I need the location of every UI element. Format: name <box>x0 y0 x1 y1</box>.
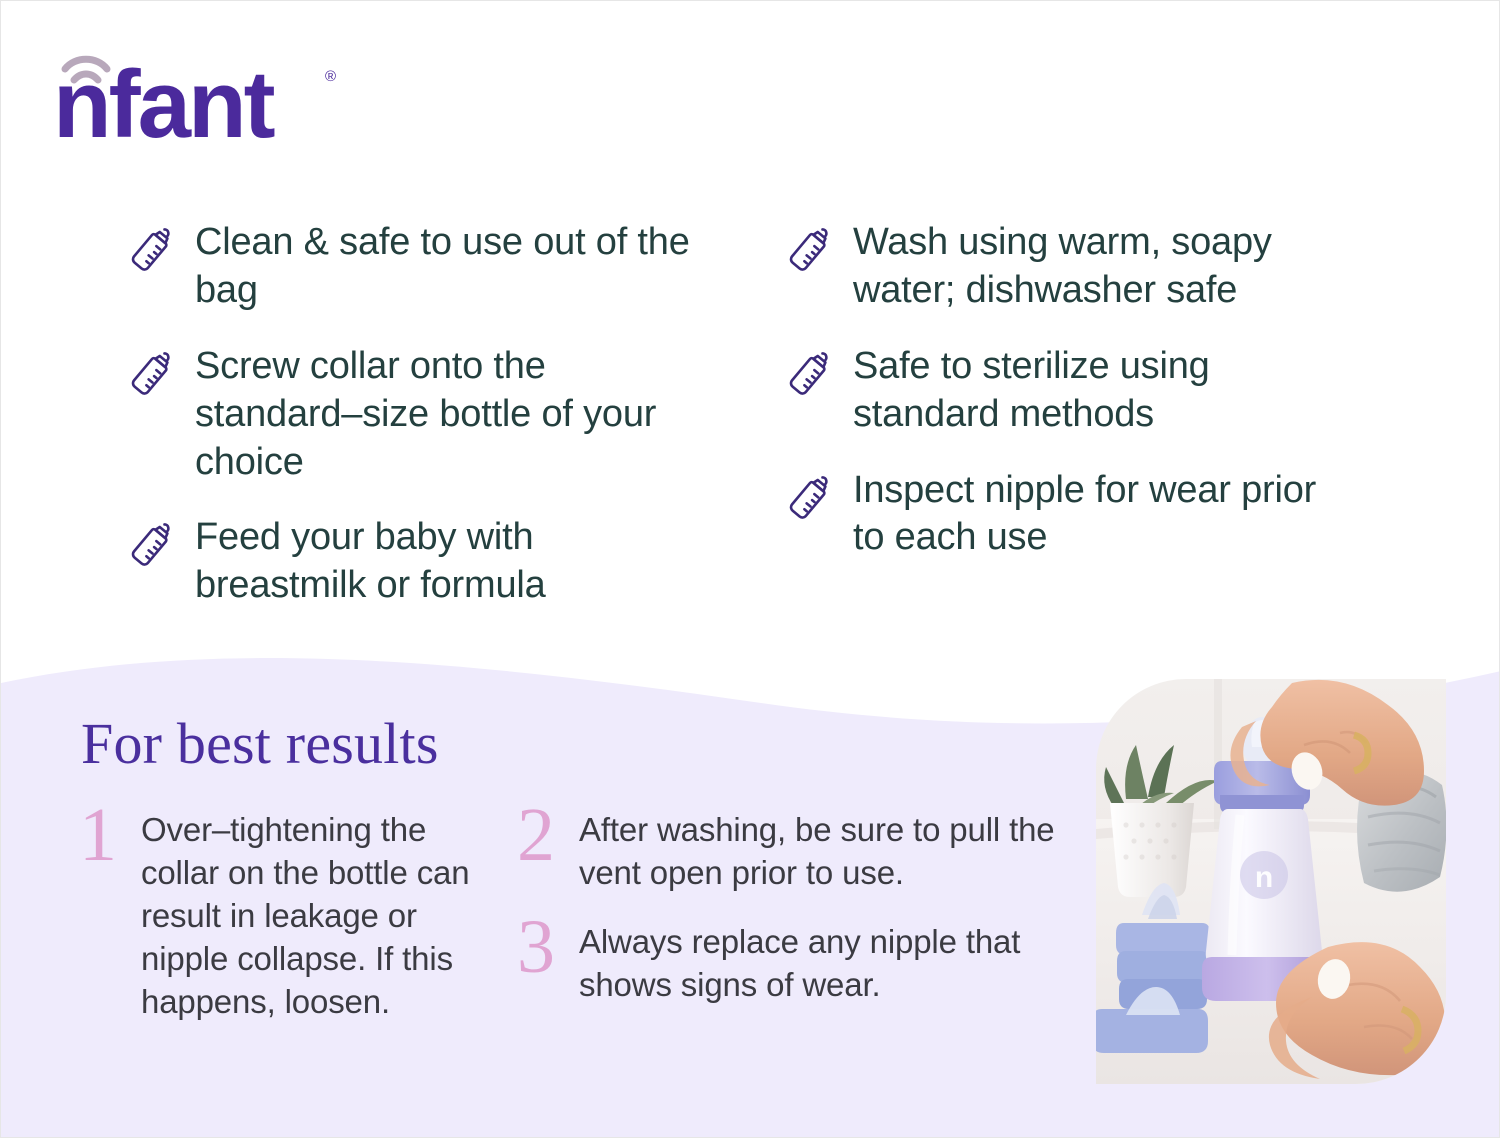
baby-bottle-icon <box>129 223 175 275</box>
tip-text: Always replace any nipple that shows sig… <box>579 921 1097 1007</box>
tip-item: 2 After washing, be sure to pull the ven… <box>517 809 1097 895</box>
feature-text: Feed your baby with breastmilk or formul… <box>195 514 709 610</box>
feature-item: Feed your baby with breastmilk or formul… <box>129 514 709 610</box>
feature-column-right: Wash using warm, soapy water; dishwasher… <box>787 219 1327 590</box>
tip-text: Over–tightening the collar on the bottle… <box>141 809 509 1023</box>
tip-number: 2 <box>517 803 579 868</box>
feature-item: Wash using warm, soapy water; dishwasher… <box>787 219 1327 315</box>
tips-column-b: 2 After washing, be sure to pull the ven… <box>517 809 1097 1033</box>
tip-text: After washing, be sure to pull the vent … <box>579 809 1097 895</box>
svg-text:®: ® <box>325 68 336 85</box>
instruction-card: nfant ® <box>0 0 1500 1138</box>
baby-bottle-icon <box>787 223 833 275</box>
feature-text: Wash using warm, soapy water; dishwasher… <box>853 219 1327 315</box>
feature-item: Clean & safe to use out of the bag <box>129 219 709 315</box>
svg-text:nfant: nfant <box>53 51 275 147</box>
tips-column-a: 1 Over–tightening the collar on the bott… <box>79 809 509 1049</box>
feature-text: Inspect nipple for wear prior to each us… <box>853 467 1327 563</box>
tip-item: 3 Always replace any nipple that shows s… <box>517 921 1097 1007</box>
feature-text: Safe to sterilize using standard methods <box>853 343 1327 439</box>
nfant-logo: nfant ® <box>53 47 343 147</box>
feature-text: Clean & safe to use out of the bag <box>195 219 709 315</box>
best-results-heading: For best results <box>81 715 439 773</box>
baby-bottle-icon <box>129 347 175 399</box>
feature-text: Screw collar onto the standard–size bott… <box>195 343 709 487</box>
feature-item: Inspect nipple for wear prior to each us… <box>787 467 1327 563</box>
feature-item: Screw collar onto the standard–size bott… <box>129 343 709 487</box>
tip-number: 3 <box>517 915 579 980</box>
feature-column-left: Clean & safe to use out of the bag <box>129 219 709 638</box>
tip-item: 1 Over–tightening the collar on the bott… <box>79 809 509 1023</box>
baby-bottle-icon <box>129 518 175 570</box>
bottle-logo-letter: n <box>1255 861 1273 894</box>
tip-number: 1 <box>79 803 141 868</box>
baby-bottle-icon <box>787 471 833 523</box>
product-photo: n <box>1096 679 1446 1084</box>
feature-item: Safe to sterilize using standard methods <box>787 343 1327 439</box>
baby-bottle-icon <box>787 347 833 399</box>
